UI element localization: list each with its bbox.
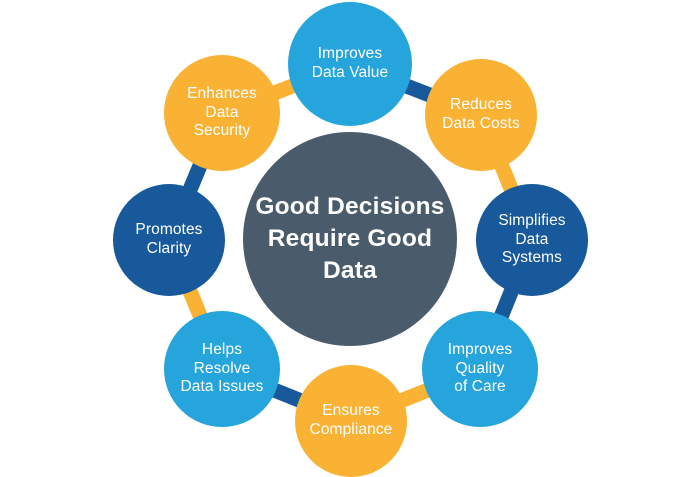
node-helps-resolve-data-issues[interactable] xyxy=(164,311,280,427)
node-improves-data-value[interactable] xyxy=(288,2,412,126)
node-reduces-data-costs[interactable] xyxy=(425,59,537,171)
node-enhances-data-security[interactable] xyxy=(164,55,280,171)
diagram-canvas: Good DecisionsRequire GoodDataImprovesDa… xyxy=(0,0,700,477)
node-ensures-compliance[interactable] xyxy=(295,365,407,477)
node-improves-quality-of-care[interactable] xyxy=(422,311,538,427)
node-simplifies-data-systems[interactable] xyxy=(476,184,588,296)
node-promotes-clarity[interactable] xyxy=(113,184,225,296)
node-center-hub[interactable] xyxy=(243,132,457,346)
